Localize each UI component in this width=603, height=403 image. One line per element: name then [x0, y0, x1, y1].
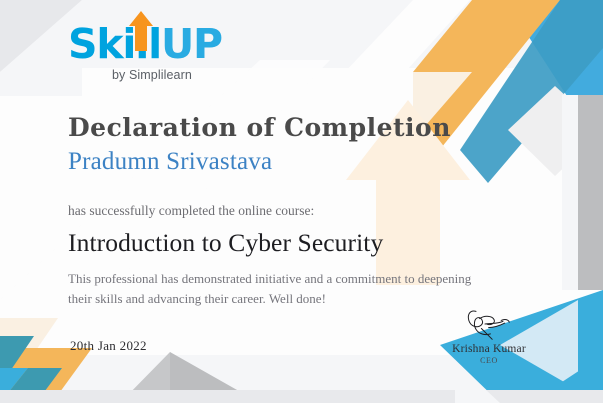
logo-subtitle: by Simplilearn: [112, 68, 298, 82]
signatory-name: Krishna Kumar: [434, 343, 544, 355]
issue-date: 20th Jan 2022: [70, 338, 147, 354]
declaration-heading: Declaration of Completion: [68, 113, 451, 142]
certificate-content: SkillUP by Simplilearn Declaration of Co…: [0, 0, 603, 403]
certificate-blurb: This professional has demonstrated initi…: [68, 269, 498, 309]
skillup-logo: SkillUP by Simplilearn: [68, 24, 298, 82]
completion-line: has successfully completed the online co…: [68, 203, 314, 219]
course-title: Introduction to Cyber Security: [68, 228, 383, 258]
handwritten-signature-icon: [449, 306, 530, 342]
recipient-name: Pradumn Srivastava: [68, 148, 272, 176]
up-arrow-icon: [128, 11, 154, 51]
certificate-card: SkillUP by Simplilearn Declaration of Co…: [0, 0, 603, 403]
signature-block: Krishna Kumar CEO: [434, 306, 544, 365]
logo-text-up: UP: [161, 24, 222, 65]
signatory-role: CEO: [434, 356, 544, 365]
